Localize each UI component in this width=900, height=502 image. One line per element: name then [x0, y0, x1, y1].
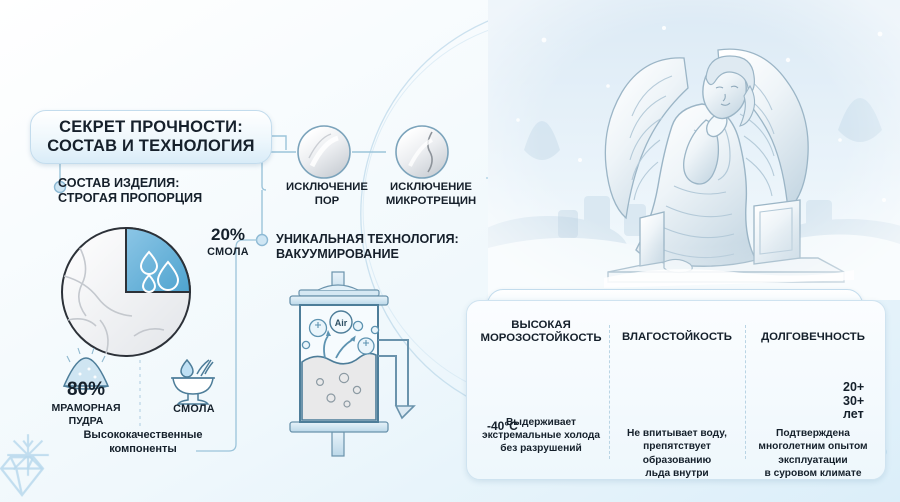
corner-accent-block: [0, 22, 26, 70]
composition-label-line-2: СТРОГАЯ ПРОПОРЦИЯ: [58, 191, 202, 205]
pie-label-resin: 20% СМОЛА: [188, 226, 268, 258]
angel-statue-illustration: [488, 0, 900, 300]
page-title-line-2: СОСТАВ И ТЕХНОЛОГИЯ: [47, 137, 254, 155]
benefit-2-desc-line-4: в суровом климате: [765, 468, 862, 479]
benefit-1-desc-line-3: льда внутри: [645, 468, 708, 479]
benefit-0-icon-row: [473, 348, 609, 404]
node-label-microcracks-line-1: ИСКЛЮЧЕНИЕ: [390, 181, 472, 193]
node-label-microcracks-line-2: МИКРОТРЕЩИН: [386, 195, 476, 207]
resin-icon-caption: СМОЛА: [150, 403, 238, 415]
pie-caption-resin: СМОЛА: [188, 246, 268, 258]
benefit-0-heading-line-1: ВЫСОКАЯ: [511, 319, 571, 331]
page-title: СЕКРЕТ ПРОЧНОСТИ: СОСТАВ И ТЕХНОЛОГИЯ: [30, 110, 272, 164]
node-icons: [298, 126, 448, 178]
technology-label-line-1: УНИКАЛЬНАЯ ТЕХНОЛОГИЯ:: [276, 232, 459, 246]
diagonal-hatch-decoration: [0, 215, 68, 355]
benefit-card-frost-resistance: ВЫСОКАЯ МОРОЗОСТОЙКОСТЬ -40°C Выдерживае…: [473, 319, 609, 456]
chamber-air-label: Air: [335, 318, 348, 328]
benefit-2-desc-line-2: многолетним опытом: [758, 441, 867, 452]
benefit-2-heading-line-1: ДОЛГОВЕЧНОСТЬ: [761, 331, 865, 343]
node-label-pores-line-2: ПОР: [315, 195, 339, 207]
benefit-1-heading-line-1: ВЛАГОСТОЙКОСТЬ: [622, 331, 732, 343]
composition-pie-chart: [62, 228, 190, 356]
node-label-microcracks: ИСКЛЮЧЕНИЕ МИКРОТРЕЩИН: [379, 181, 483, 209]
benefit-1-desc-line-1: Не впитывает воду,: [627, 428, 727, 439]
composition-branch-label: СОСТАВ ИЗДЕЛИЯ: СТРОГАЯ ПРОПОРЦИЯ: [58, 176, 202, 206]
vacuum-chamber-diagram: Air: [290, 272, 414, 456]
node-label-pores: ИСКЛЮЧЕНИЕ ПОР: [281, 181, 373, 209]
technology-label-line-2: ВАКУУМИРОВАНИЕ: [276, 247, 399, 261]
node-label-pores-line-1: ИСКЛЮЧЕНИЕ: [286, 181, 368, 193]
pie-caption-marble-line-1: МРАМОРНАЯ: [51, 402, 120, 414]
infographic-root: Air: [0, 0, 900, 502]
technology-branch-label: УНИКАЛЬНАЯ ТЕХНОЛОГИЯ: ВАКУУМИРОВАНИЕ: [276, 232, 459, 262]
benefit-card-durability: ДОЛГОВЕЧНОСТЬ 20+ 30+ лет Подтверждена м…: [745, 319, 881, 480]
years-badge-line-3: лет: [843, 408, 864, 422]
quality-note-line-1: Высококачественные: [83, 429, 202, 441]
quality-note: Высококачественные компоненты: [48, 429, 238, 457]
benefit-1-icon-row: [609, 359, 745, 415]
years-badge-line-1: 20+: [843, 381, 864, 395]
benefit-card-moisture-resistance: ВЛАГОСТОЙКОСТЬ Не впитывает воду, препят…: [609, 319, 745, 480]
benefit-2-desc-line-3: эксплуатации: [778, 455, 847, 466]
years-badge-line-2: 30+: [843, 395, 864, 409]
benefit-0-heading-line-2: МОРОЗОСТОЙКОСТЬ: [480, 332, 601, 344]
pie-caption-marble-line-2: ПУДРА: [69, 415, 104, 427]
benefits-panel: ВЫСОКАЯ МОРОЗОСТОЙКОСТЬ -40°C Выдерживае…: [466, 300, 886, 480]
resin-bowl-whisk-icon: [171, 360, 215, 404]
composition-label-line-1: СОСТАВ ИЗДЕЛИЯ:: [58, 176, 179, 190]
pie-percent-marble: 80%: [36, 380, 136, 399]
benefit-0-desc-line-3: без разрушений: [500, 443, 582, 454]
years-badge: 20+ 30+ лет: [843, 381, 864, 422]
benefit-2-desc-line-1: Подтверждена: [776, 428, 850, 439]
quality-note-line-2: компоненты: [109, 443, 177, 455]
pie-label-marble: 80% МРАМОРНАЯ ПУДРА: [36, 380, 136, 427]
pie-percent-resin: 20%: [188, 226, 268, 243]
benefit-1-desc-line-2: препятствует образованию: [643, 441, 711, 465]
temperature-badge: -40°C: [487, 419, 518, 433]
page-title-line-1: СЕКРЕТ ПРОЧНОСТИ:: [59, 118, 243, 136]
